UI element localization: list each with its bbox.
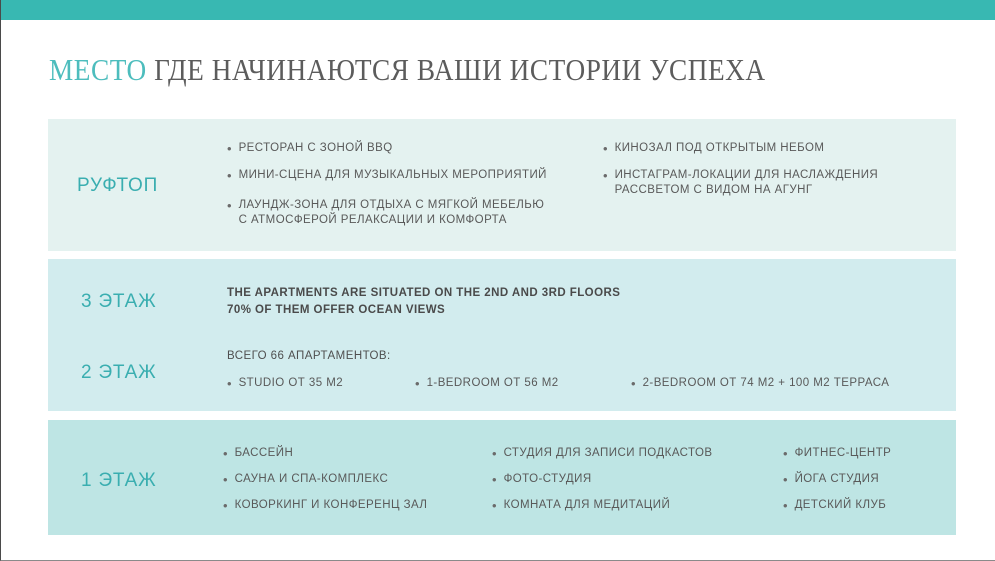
list-item-label: ЙОГА СТУДИЯ bbox=[795, 472, 880, 487]
list-item-label: ФИТНЕС-ЦЕНТР bbox=[795, 446, 892, 461]
page-title-accent-word: МЕСТО bbox=[49, 52, 147, 87]
list-item-label: МИНИ-СЦЕНА ДЛЯ МУЗЫКАЛЬНЫХ МЕРОПРИЯТИЙ bbox=[239, 168, 547, 183]
list-item-label: ДЕТСКИЙ КЛУБ bbox=[795, 498, 887, 513]
list-item-label: КОВОРКИНГ И КОНФЕРЕНЦ ЗАЛ bbox=[235, 498, 428, 513]
list-item: • КОМНАТА ДЛЯ МЕДИТАЦИЙ bbox=[492, 498, 670, 513]
bullet-icon: • bbox=[603, 169, 608, 182]
list-item-label: 1-BEDROOM ОТ 56 M2 bbox=[427, 376, 559, 391]
bullet-icon: • bbox=[227, 142, 232, 155]
section-label-floor-2: 2 ЭТАЖ bbox=[81, 362, 157, 384]
bullet-icon: • bbox=[492, 499, 497, 512]
bullet-icon: • bbox=[783, 473, 788, 486]
bullet-icon: • bbox=[227, 199, 232, 212]
list-item: • ЛАУНДЖ-ЗОНА ДЛЯ ОТДЫХА С МЯГКОЙ МЕБЕЛЬ… bbox=[227, 198, 544, 228]
list-item: • СТУДИЯ ДЛЯ ЗАПИСИ ПОДКАСТОВ bbox=[492, 446, 713, 461]
list-item: • ДЕТСКИЙ КЛУБ bbox=[783, 498, 886, 513]
bullet-icon: • bbox=[223, 447, 228, 460]
section-label-floor-3: 3 ЭТАЖ bbox=[81, 291, 157, 313]
bullet-icon: • bbox=[492, 473, 497, 486]
list-item-label: РЕСТОРАН С ЗОНОЙ BBQ bbox=[239, 141, 393, 156]
list-item-label: STUDIO ОТ 35 M2 bbox=[239, 376, 344, 391]
list-item: • 2-BEDROOM ОТ 74 M2 + 100 M2 ТЕРРАСА bbox=[631, 376, 889, 391]
list-item: • РЕСТОРАН С ЗОНОЙ BBQ bbox=[227, 141, 393, 156]
page-title-rest: ГДЕ НАЧИНАЮТСЯ ВАШИ ИСТОРИИ УСПЕХА bbox=[147, 52, 766, 87]
list-item: • ФОТО-СТУДИЯ bbox=[492, 472, 592, 487]
list-item-label: КОМНАТА ДЛЯ МЕДИТАЦИЙ bbox=[504, 498, 671, 513]
list-item: • ФИТНЕС-ЦЕНТР bbox=[783, 446, 891, 461]
floor-3-description: THE APARTMENTS ARE SITUATED ON THE 2ND A… bbox=[227, 285, 620, 319]
bullet-icon: • bbox=[223, 499, 228, 512]
section-label-rooftop: РУФТОП bbox=[77, 175, 158, 197]
list-item: • 1-BEDROOM ОТ 56 M2 bbox=[415, 376, 559, 391]
list-item: • ИНСТАГРАМ-ЛОКАЦИИ ДЛЯ НАСЛАЖДЕНИЯ РАСС… bbox=[603, 168, 878, 198]
list-item: • STUDIO ОТ 35 M2 bbox=[227, 376, 343, 391]
bullet-icon: • bbox=[415, 377, 420, 390]
bullet-icon: • bbox=[492, 447, 497, 460]
list-item: • КОВОРКИНГ И КОНФЕРЕНЦ ЗАЛ bbox=[223, 498, 427, 513]
list-item-label: САУНА И СПА-КОМПЛЕКС bbox=[235, 472, 389, 487]
bullet-icon: • bbox=[223, 473, 228, 486]
list-item: • ЙОГА СТУДИЯ bbox=[783, 472, 879, 487]
list-item: • БАССЕЙН bbox=[223, 446, 293, 461]
bullet-icon: • bbox=[783, 499, 788, 512]
list-item: • КИНОЗАЛ ПОД ОТКРЫТЫМ НЕБОМ bbox=[603, 141, 824, 156]
bullet-icon: • bbox=[227, 377, 232, 390]
bullet-icon: • bbox=[227, 169, 232, 182]
list-item-label: 2-BEDROOM ОТ 74 M2 + 100 M2 ТЕРРАСА bbox=[643, 376, 890, 391]
floor-2-intro: ВСЕГО 66 АПАРТАМЕНТОВ: bbox=[227, 348, 391, 365]
list-item-label: КИНОЗАЛ ПОД ОТКРЫТЫМ НЕБОМ bbox=[615, 141, 825, 156]
list-item: • САУНА И СПА-КОМПЛЕКС bbox=[223, 472, 388, 487]
section-label-floor-1: 1 ЭТАЖ bbox=[81, 470, 157, 492]
bullet-icon: • bbox=[631, 377, 636, 390]
bullet-icon: • bbox=[603, 142, 608, 155]
list-item-label: ФОТО-СТУДИЯ bbox=[504, 472, 592, 487]
list-item: • МИНИ-СЦЕНА ДЛЯ МУЗЫКАЛЬНЫХ МЕРОПРИЯТИЙ bbox=[227, 168, 547, 183]
bullet-icon: • bbox=[783, 447, 788, 460]
top-accent-bar bbox=[1, 0, 995, 20]
list-item-label: БАССЕЙН bbox=[235, 446, 294, 461]
list-item-label: СТУДИЯ ДЛЯ ЗАПИСИ ПОДКАСТОВ bbox=[504, 446, 713, 461]
page-title: МЕСТО ГДЕ НАЧИНАЮТСЯ ВАШИ ИСТОРИИ УСПЕХА bbox=[49, 52, 766, 88]
list-item-label: ЛАУНДЖ-ЗОНА ДЛЯ ОТДЫХА С МЯГКОЙ МЕБЕЛЬЮ … bbox=[239, 198, 545, 228]
list-item-label: ИНСТАГРАМ-ЛОКАЦИИ ДЛЯ НАСЛАЖДЕНИЯ РАССВЕ… bbox=[615, 168, 879, 198]
